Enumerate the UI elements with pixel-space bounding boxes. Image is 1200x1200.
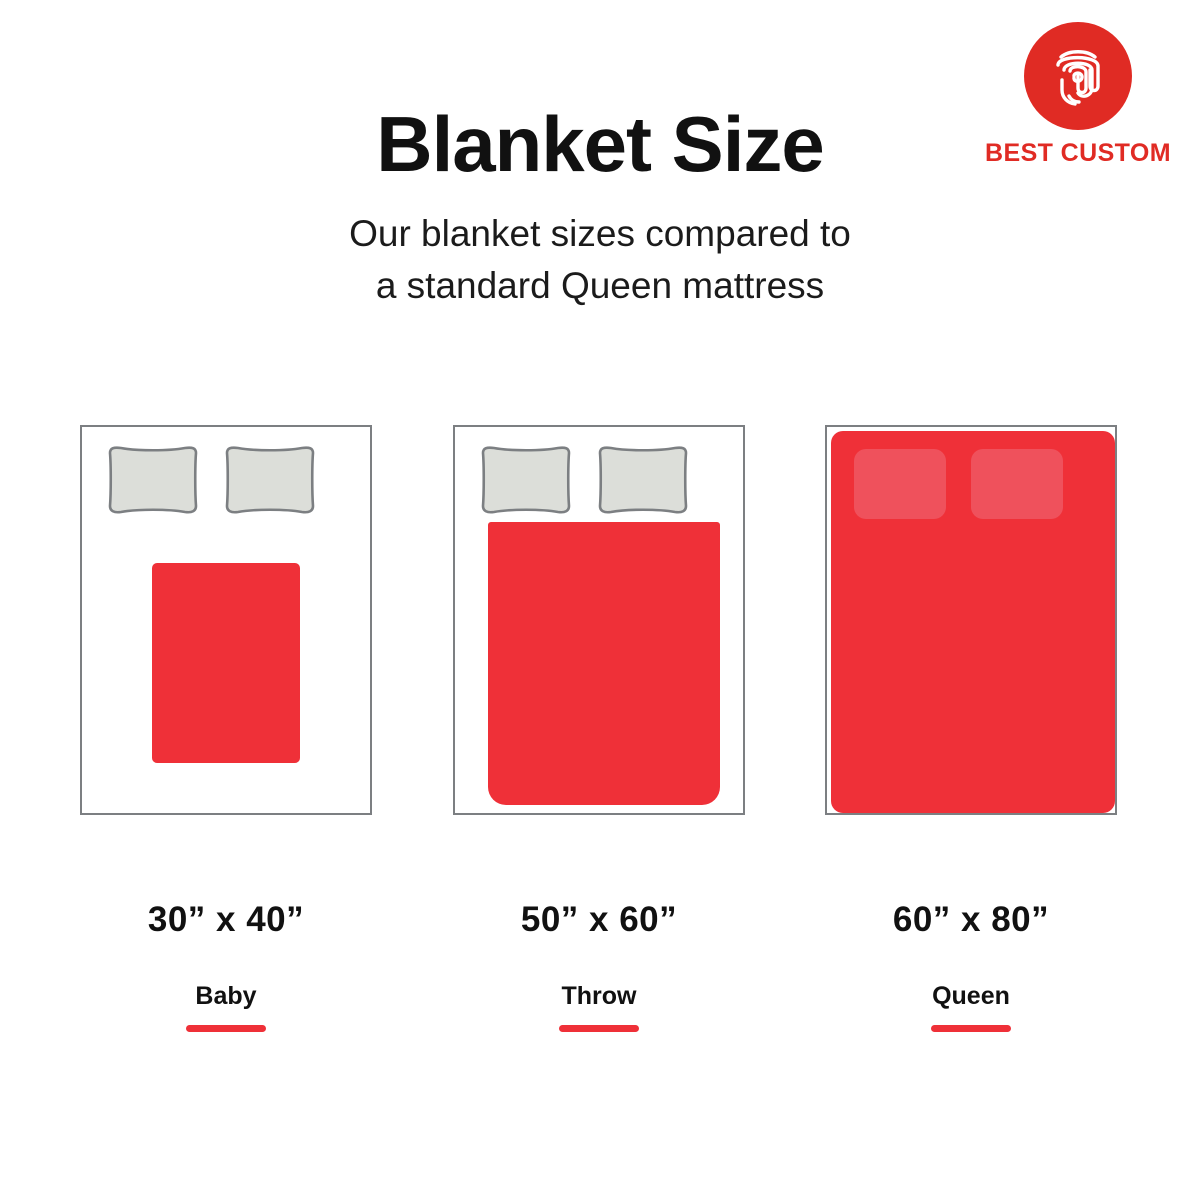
page-subtitle: Our blanket sizes compared to a standard…: [0, 208, 1200, 313]
header: Blanket Size Our blanket sizes compared …: [0, 104, 1200, 313]
accent-underline: [559, 1025, 639, 1032]
accent-underline: [186, 1025, 266, 1032]
mattress-outline: [825, 425, 1117, 815]
infographic-page: BEST CUSTOM Blanket Size Our blanket siz…: [0, 0, 1200, 1200]
blanket-dimensions: 50” x 60”: [453, 900, 745, 940]
pillow-icon: [595, 445, 691, 515]
subtitle-line-1: Our blanket sizes compared to: [0, 208, 1200, 261]
blanket-swatch-queen: [831, 431, 1115, 813]
bed-diagram-queen: [825, 425, 1117, 815]
pillow-icon: [105, 445, 201, 515]
blanket-name: Throw: [453, 982, 745, 1011]
pillow-icon: [222, 445, 318, 515]
bed-diagram-baby: [80, 425, 372, 815]
mattress-outline: [80, 425, 372, 815]
pillow-icon: [854, 449, 946, 519]
mattress-outline: [453, 425, 745, 815]
blanket-name: Queen: [825, 982, 1117, 1011]
caption-throw: 50” x 60” Throw: [453, 900, 745, 1032]
blanket-swatch-baby: [152, 563, 300, 763]
blanket-dimensions: 30” x 40”: [80, 900, 372, 940]
blanket-name: Baby: [80, 982, 372, 1011]
blanket-swatch-throw: [488, 522, 720, 805]
page-title: Blanket Size: [0, 104, 1200, 186]
bed-comparison-row: [0, 425, 1200, 817]
bed-captions-row: 30” x 40” Baby 50” x 60” Throw 60” x 80”…: [0, 900, 1200, 1060]
caption-queen: 60” x 80” Queen: [825, 900, 1117, 1032]
pillow-icon: [478, 445, 574, 515]
bed-diagram-throw: [453, 425, 745, 815]
blanket-dimensions: 60” x 80”: [825, 900, 1117, 940]
pillow-icon: [971, 449, 1063, 519]
accent-underline: [931, 1025, 1011, 1032]
subtitle-line-2: a standard Queen mattress: [0, 260, 1200, 313]
caption-baby: 30” x 40” Baby: [80, 900, 372, 1032]
